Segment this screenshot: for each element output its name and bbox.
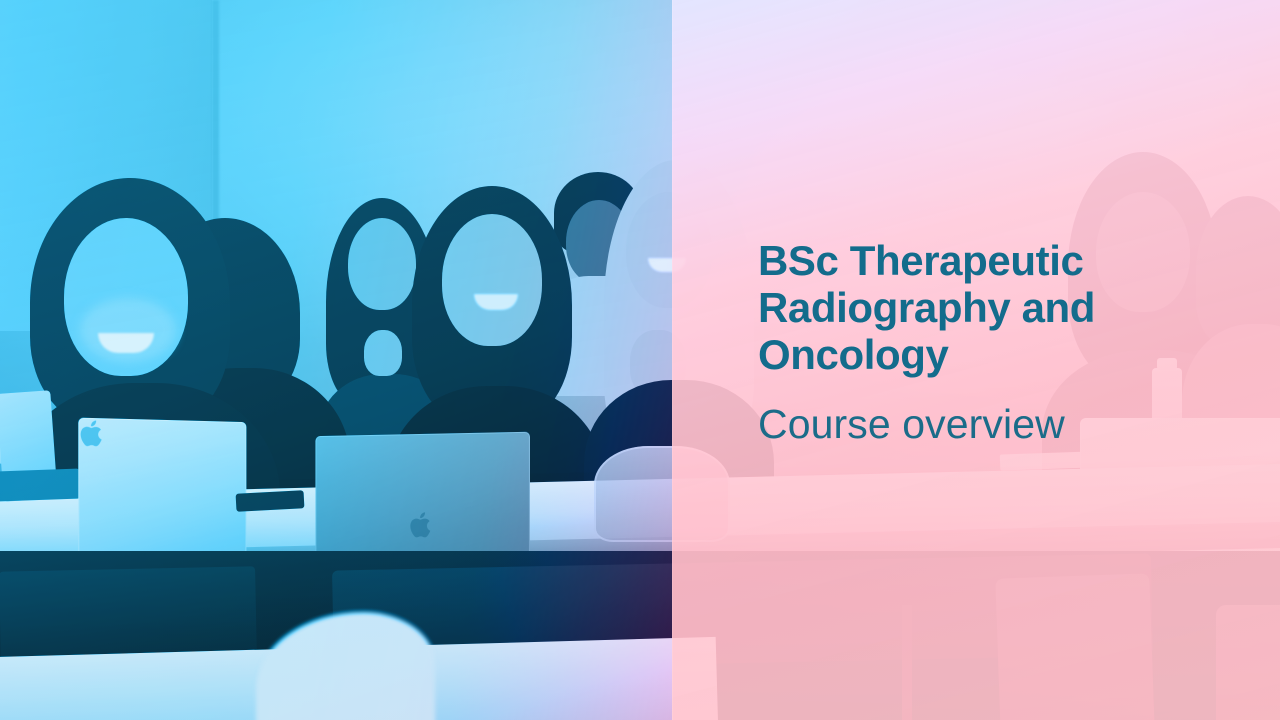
course-title-line-2: Radiography and — [758, 284, 1095, 331]
title-overlay: BSc Therapeutic Radiography and Oncology… — [758, 237, 1258, 448]
red-chair-far — [1216, 605, 1280, 720]
video-still-frame: BSc Therapeutic Radiography and Oncology… — [0, 0, 1280, 720]
laptop-lid — [78, 418, 246, 565]
clear-bag — [594, 446, 730, 542]
red-chair — [996, 573, 1155, 720]
apple-logo — [408, 510, 434, 540]
face — [626, 192, 712, 308]
face — [442, 214, 542, 346]
course-title: BSc Therapeutic Radiography and Oncology — [758, 237, 1258, 378]
hand — [364, 330, 402, 376]
face — [348, 218, 416, 310]
phone-on-desk — [236, 490, 305, 512]
tablet-stand — [0, 469, 80, 502]
course-subtitle: Course overview — [758, 378, 1258, 448]
course-title-line-1: BSc Therapeutic — [758, 237, 1083, 284]
apple-logo — [78, 418, 105, 449]
course-title-line-3: Oncology — [758, 331, 948, 378]
chair-leg — [902, 605, 912, 720]
